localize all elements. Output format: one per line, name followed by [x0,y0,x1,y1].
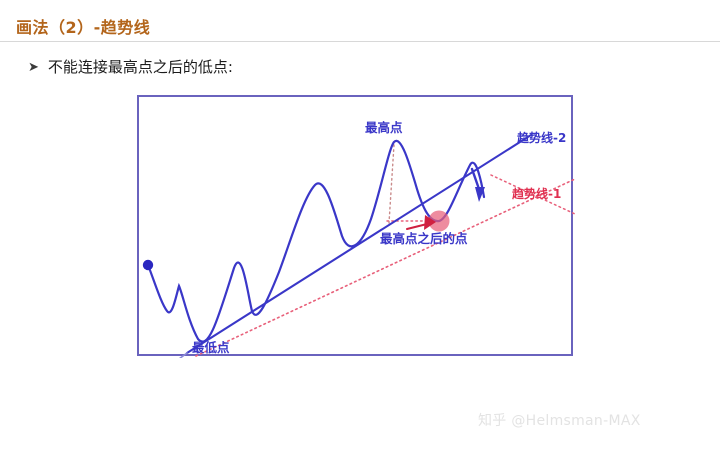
trendline-2-extension [179,353,187,358]
arrow-bullet-icon: ➤ [28,61,39,74]
trendline-2-solid [187,135,531,353]
highest-point-drop-line [389,145,394,223]
label-point-after-highest: 最高点之后的点 [380,233,468,246]
title-divider [0,41,720,42]
label-highest-point: 最高点 [365,122,403,135]
bullet-text: 不能连接最高点之后的低点: [48,56,233,77]
trendline-chart [139,97,575,358]
page-title: 画法（2）-趋势线 [16,14,150,38]
label-trendline-1: 趋势线-1 [512,188,561,200]
bullet-row: ➤ 不能连接最高点之后的低点: [28,56,233,77]
chart-container: 最高点 趋势线-2 趋势线-1 最高点之后的点 最低点 [137,95,573,356]
label-lowest-point: 最低点 [192,342,230,355]
watermark: 知乎 @Helmsman-MAX [478,410,641,430]
label-trendline-2: 趋势线-2 [517,132,566,144]
start-dot-marker [143,260,153,270]
trendline-1-dotted [196,179,575,356]
